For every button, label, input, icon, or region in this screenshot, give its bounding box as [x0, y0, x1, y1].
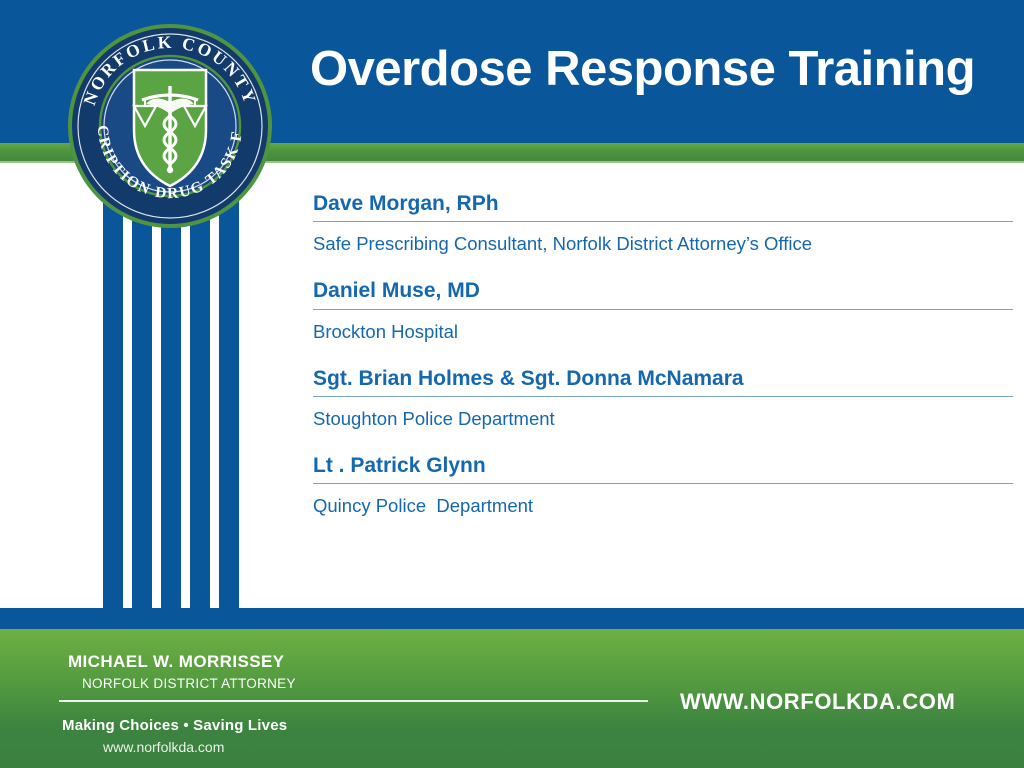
presenter-name: Dave Morgan, RPh: [313, 190, 1013, 221]
presenter-divider: [313, 396, 1013, 397]
presenter-item: Sgt. Brian Holmes & Sgt. Donna McNamara …: [313, 365, 1013, 432]
footer-website-large: WWW.NORFOLKDA.COM: [680, 689, 955, 715]
slide-title: Overdose Response Training: [310, 44, 1010, 95]
presenter-list: Dave Morgan, RPh Safe Prescribing Consul…: [313, 190, 1013, 519]
footer-website-small: www.norfolkda.com: [103, 739, 224, 755]
task-force-seal-logo: NORFOLK COUNTY PRESCRIPTION DRUG TASK FO…: [66, 22, 274, 230]
presenter-name: Daniel Muse, MD: [313, 277, 1013, 308]
presenter-organization: Stoughton Police Department: [313, 407, 1013, 432]
bottom-blue-bar: [0, 608, 1024, 629]
footer-divider: [59, 700, 648, 702]
presentation-slide: Overdose Response Training: [0, 0, 1024, 768]
footer-tagline: Making Choices • Saving Lives: [62, 717, 287, 734]
presenter-divider: [313, 309, 1013, 310]
footer-da-name: MICHAEL W. MORRISSEY: [68, 652, 284, 672]
footer-da-role: NORFOLK DISTRICT ATTORNEY: [82, 676, 296, 691]
presenter-organization: Safe Prescribing Consultant, Norfolk Dis…: [313, 232, 1013, 257]
footer-banner: MICHAEL W. MORRISSEY NORFOLK DISTRICT AT…: [0, 629, 1024, 768]
presenter-item: Dave Morgan, RPh Safe Prescribing Consul…: [313, 190, 1013, 257]
presenter-item: Lt . Patrick Glynn Quincy Police Departm…: [313, 452, 1013, 519]
presenter-name: Sgt. Brian Holmes & Sgt. Donna McNamara: [313, 365, 1013, 396]
presenter-divider: [313, 221, 1013, 222]
presenter-name: Lt . Patrick Glynn: [313, 452, 1013, 483]
presenter-organization: Brockton Hospital: [313, 320, 1013, 345]
presenter-organization: Quincy Police Department: [313, 494, 1013, 519]
presenter-item: Daniel Muse, MD Brockton Hospital: [313, 277, 1013, 344]
presenter-divider: [313, 483, 1013, 484]
